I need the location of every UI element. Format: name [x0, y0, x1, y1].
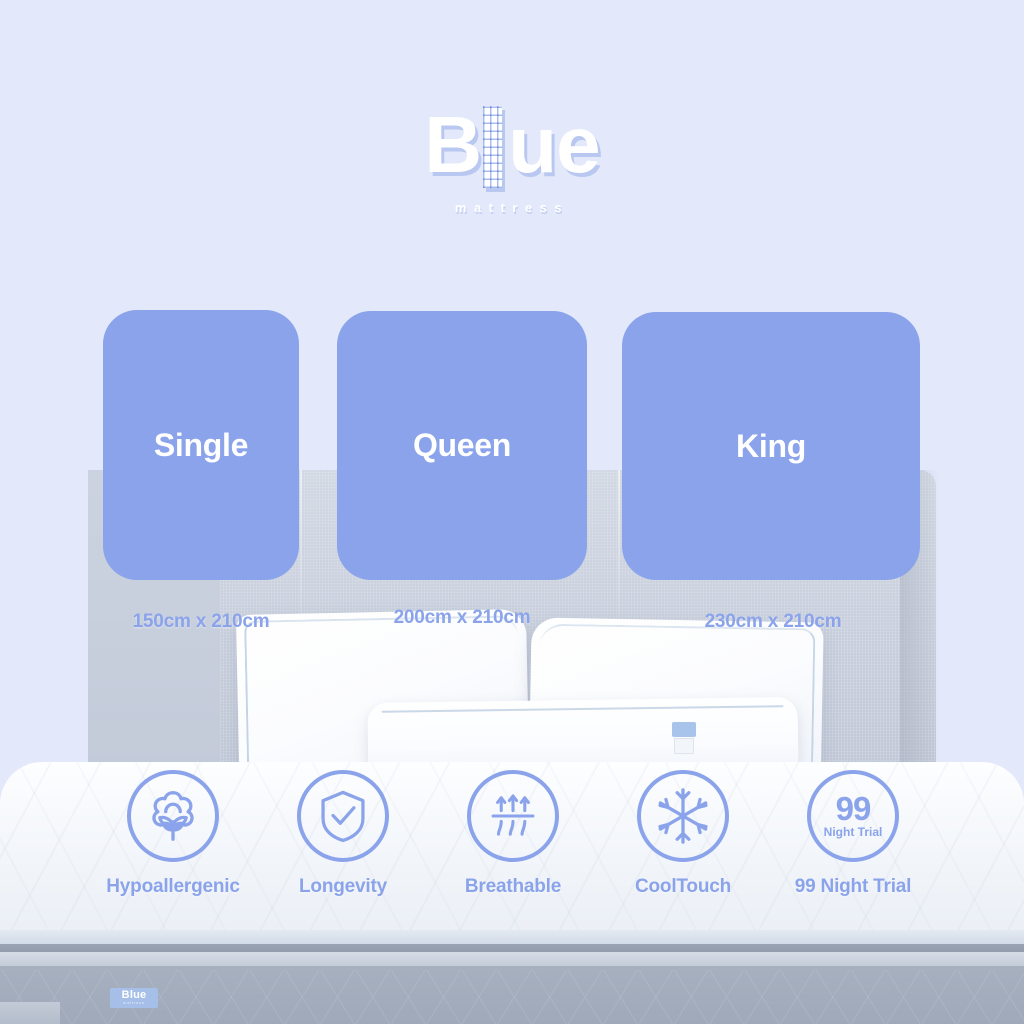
size-card-label: Single [154, 427, 248, 464]
snowflake-icon [652, 785, 714, 847]
size-dimensions-single: 150cm x 210cm [83, 611, 319, 633]
logo-letters-ue: ue [508, 105, 599, 185]
size-card-label: Queen [413, 427, 511, 464]
size-card-queen[interactable]: Queen [337, 311, 587, 580]
feature-icon-circle [127, 770, 219, 862]
logo-letter-l-grid-icon [483, 106, 502, 188]
feature-label: CoolTouch [635, 876, 731, 898]
feature-breathable[interactable]: Breathable [428, 770, 598, 898]
feature-icon-circle [297, 770, 389, 862]
size-card-label: King [736, 428, 806, 465]
logo-letter-b: B [424, 105, 481, 185]
size-dimensions-queen: 200cm x 210cm [342, 607, 582, 629]
pillow-brand-tag [672, 722, 696, 737]
feature-night-trial[interactable]: 99 Night Trial 99 Night Trial [768, 770, 938, 898]
feature-icon-circle [467, 770, 559, 862]
mattress-piping [0, 952, 1024, 966]
trial-badge-number: 99 [836, 794, 871, 824]
brand-tagline: mattress [455, 200, 569, 215]
feature-list: Hypoallergenic Longevity [88, 770, 938, 920]
mattress-brand-tag: Blue mattress [110, 988, 158, 1008]
nightstand [0, 1002, 60, 1024]
size-card-king[interactable]: King [622, 312, 920, 580]
feature-label: Longevity [299, 876, 387, 898]
airflow-icon [484, 787, 542, 845]
size-card-single[interactable]: Single [103, 310, 299, 580]
shield-check-icon [314, 787, 372, 845]
feature-label: Hypoallergenic [106, 876, 239, 898]
feature-hypoallergenic[interactable]: Hypoallergenic [88, 770, 258, 898]
feature-longevity[interactable]: Longevity [258, 770, 428, 898]
feature-label: Breathable [465, 876, 561, 898]
feature-cooltouch[interactable]: CoolTouch [598, 770, 768, 898]
mattress-tag-name: Blue [122, 990, 147, 1001]
cotton-flower-icon [142, 785, 204, 847]
size-dimensions-king: 230cm x 210cm [653, 611, 893, 633]
feature-label: 99 Night Trial [795, 876, 912, 898]
feature-icon-circle [637, 770, 729, 862]
pillow-care-label [674, 738, 694, 754]
brand-wordmark: B ue [424, 105, 599, 189]
trial-badge-icon: 99 Night Trial [807, 770, 899, 862]
trial-badge-sublabel: Night Trial [824, 826, 883, 838]
mattress-tag-sub: mattress [123, 1002, 144, 1006]
promo-canvas: Blue mattress B ue mattress Single Queen… [0, 0, 1024, 1024]
trial-badge-content: 99 Night Trial [824, 794, 883, 838]
brand-logo: B ue mattress [0, 105, 1024, 215]
